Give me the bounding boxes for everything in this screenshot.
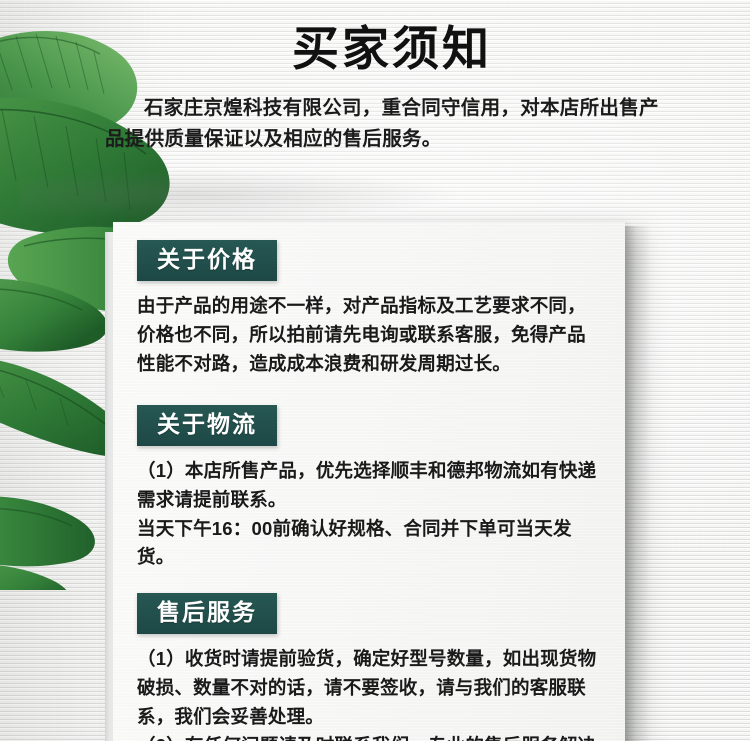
paragraph: （2）有任何问题请及时联系我们，专业的售后服务解决您的后顾之忧。 [137,732,599,741]
section-badge-logistics: 关于物流 [137,405,277,446]
buyer-notice-page: 买家须知 石家庄京煌科技有限公司，重合同守信用，对本店所出售产品提供质量保证以及… [0,0,750,741]
section-body-logistics: （1）本店所售产品，优先选择顺丰和德邦物流如有快递需求请提前联系。 当天下午16… [137,457,599,572]
spacer [137,576,599,593]
section-body-price: 由于产品的用途不一样，对产品指标及工艺要求不同，价格也不同，所以拍前请先电询或联… [137,292,599,379]
notice-card-content: 关于价格 由于产品的用途不一样，对产品指标及工艺要求不同，价格也不同，所以拍前请… [113,222,625,741]
section-logistics: 关于物流 （1）本店所售产品，优先选择顺丰和德邦物流如有快递需求请提前联系。 当… [137,405,599,573]
paragraph: （1）本店所售产品，优先选择顺丰和德邦物流如有快递需求请提前联系。 [137,457,599,515]
section-badge-after-sales: 售后服务 [137,593,277,634]
notice-card: 关于价格 由于产品的用途不一样，对产品指标及工艺要求不同，价格也不同，所以拍前请… [113,222,625,741]
company-intro-text: 石家庄京煌科技有限公司，重合同守信用，对本店所出售产品提供质量保证以及相应的售后… [85,93,665,155]
page-header: 买家须知 石家庄京煌科技有限公司，重合同守信用，对本店所出售产品提供质量保证以及… [0,0,750,154]
section-after-sales: 售后服务 （1）收货时请提前验货，确定好型号数量，如出现货物破损、数量不对的话，… [137,593,599,741]
paragraph: （1）收货时请提前验货，确定好型号数量，如出现货物破损、数量不对的话，请不要签收… [137,645,599,732]
section-badge-price: 关于价格 [137,240,277,281]
paragraph: 当天下午16：00前确认好规格、合同并下单可当天发货。 [137,515,599,573]
spacer [137,383,599,405]
section-body-after-sales: （1）收货时请提前验货，确定好型号数量，如出现货物破损、数量不对的话，请不要签收… [137,645,599,741]
page-title: 买家须知 [0,0,750,75]
paragraph: 由于产品的用途不一样，对产品指标及工艺要求不同，价格也不同，所以拍前请先电询或联… [137,292,599,379]
section-price: 关于价格 由于产品的用途不一样，对产品指标及工艺要求不同，价格也不同，所以拍前请… [137,240,599,379]
